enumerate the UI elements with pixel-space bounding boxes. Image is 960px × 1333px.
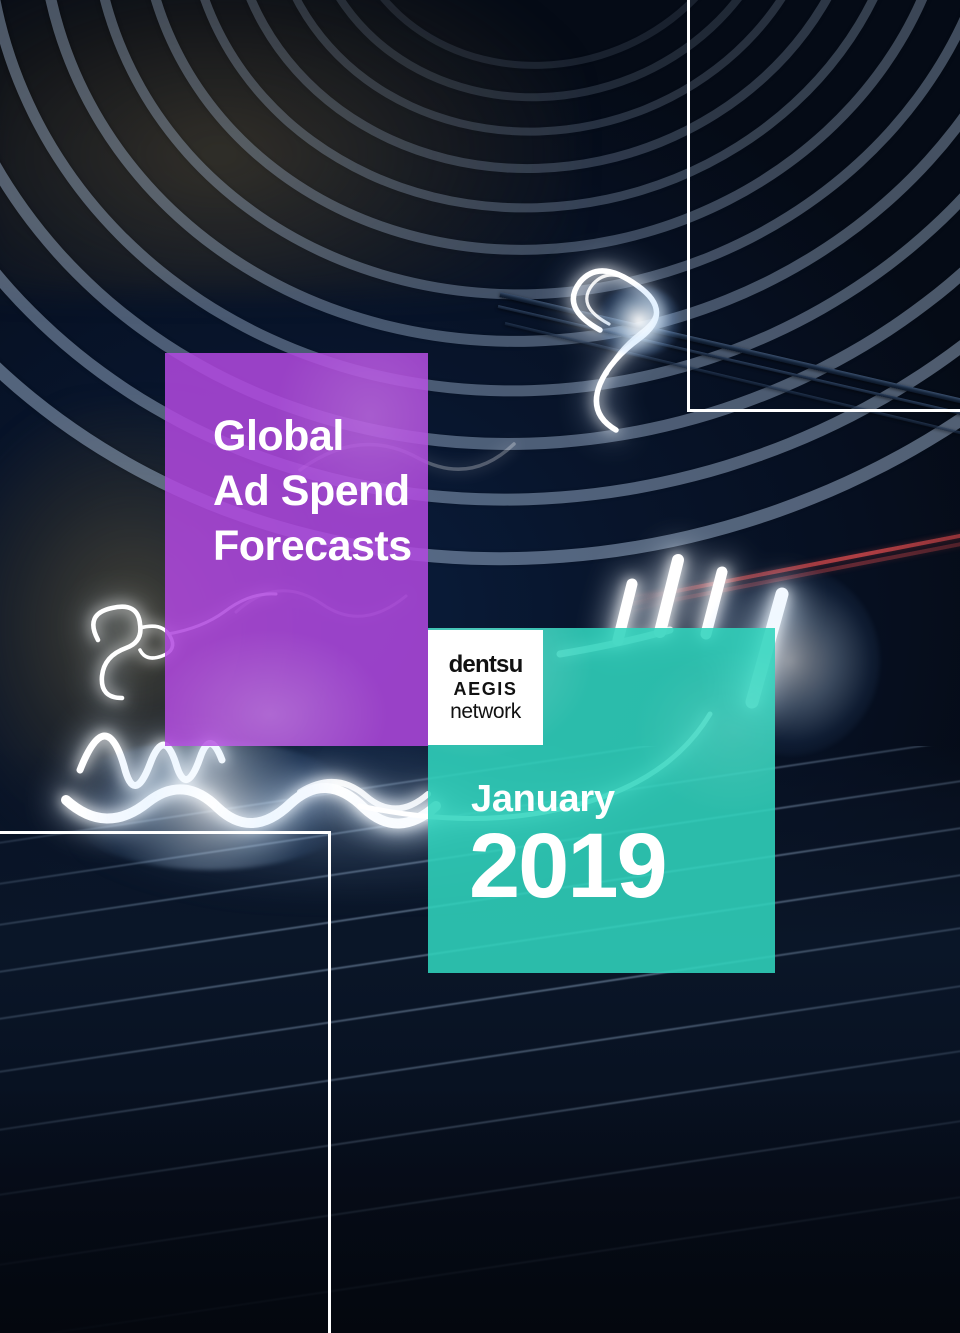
title-block: Global Ad Spend Forecasts — [165, 353, 428, 746]
rule-line-top-right-vertical — [687, 0, 690, 412]
publication-year: 2019 — [469, 820, 666, 912]
publication-month: January — [471, 780, 615, 818]
report-cover-page: Global Ad Spend Forecasts January 2019 d… — [0, 0, 960, 1333]
logo-wordmark-aegis: AEGIS — [453, 680, 517, 698]
page-title: Global Ad Spend Forecasts — [213, 409, 420, 574]
dentsu-aegis-network-logo: dentsu AEGIS network — [428, 630, 543, 745]
light-glow — [596, 286, 682, 356]
logo-wordmark-dentsu: dentsu — [449, 653, 523, 677]
logo-wordmark-network: network — [450, 701, 521, 722]
rule-line-bottom-left-vertical — [328, 831, 331, 1333]
light-glow — [60, 740, 360, 870]
rule-line-top-right-horizontal — [687, 409, 960, 412]
rule-line-bottom-left-horizontal — [0, 831, 331, 834]
